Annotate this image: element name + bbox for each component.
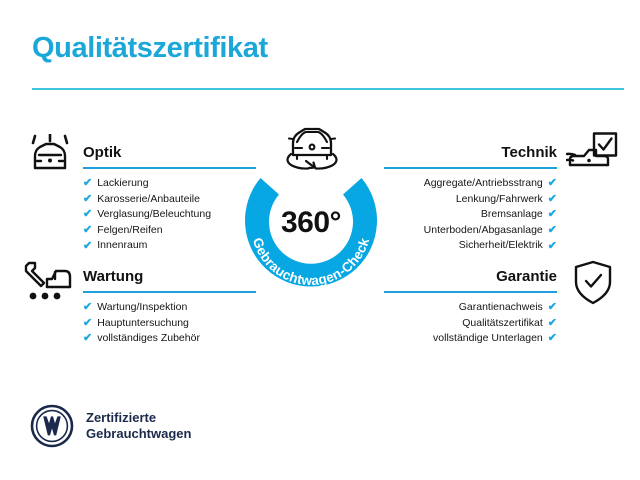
wrench-car-icon <box>24 259 74 303</box>
car-front-rotate-icon <box>278 117 346 173</box>
list-item-label: Bremsanlage <box>481 207 543 223</box>
list-item-label: vollständige Unterlagen <box>433 331 543 347</box>
list-item-label: Innenraum <box>97 238 147 254</box>
list-item-label: Wartung/Inspektion <box>97 300 187 316</box>
list-item: vollständige Unterlagen ✔ <box>384 331 557 347</box>
list-item-label: Garantienachweis <box>459 300 543 316</box>
list-item: Bremsanlage ✔ <box>384 207 557 223</box>
car-front-shine-icon <box>26 134 74 174</box>
vw-logo <box>30 404 74 448</box>
list-item: ✔ Felgen/Reifen <box>83 223 256 239</box>
list-item: ✔ Wartung/Inspektion <box>83 300 256 316</box>
list-item-label: Felgen/Reifen <box>97 223 162 239</box>
section-technik-title: Technik <box>384 143 557 163</box>
check-icon: ✔ <box>83 241 92 252</box>
check-icon: ✔ <box>83 318 92 329</box>
section-optik-title: Optik <box>83 143 256 163</box>
check-icon: ✔ <box>83 209 92 220</box>
check-icon: ✔ <box>548 178 557 189</box>
list-item: Garantienachweis ✔ <box>384 300 557 316</box>
shield-check-icon <box>572 260 614 306</box>
page-title: Qualitätszertifikat <box>32 32 268 65</box>
title-divider <box>32 88 624 90</box>
section-wartung: Wartung ✔ Wartung/Inspektion ✔ Hauptunte… <box>83 267 256 347</box>
list-item-label: Aggregate/Antriebsstrang <box>424 176 543 192</box>
check-icon: ✔ <box>83 333 92 344</box>
check-icon: ✔ <box>83 302 92 313</box>
section-garantie-title: Garantie <box>384 267 557 287</box>
list-item: Sicherheit/Elektrik ✔ <box>384 238 557 254</box>
section-optik-items: ✔ Lackierung ✔ Karosserie/Anbauteile ✔ V… <box>83 176 256 254</box>
list-item-label: Sicherheit/Elektrik <box>459 238 543 254</box>
brand-line-1: Zertifizierte <box>86 410 191 426</box>
section-garantie-items: Garantienachweis ✔ Qualitätszertifikat ✔… <box>384 300 557 347</box>
section-wartung-divider <box>83 291 256 293</box>
list-item: Unterboden/Abgasanlage ✔ <box>384 223 557 239</box>
certificate-page: Qualitätszertifikat Optik <box>0 0 640 480</box>
list-item-label: Lackierung <box>97 176 148 192</box>
list-item: ✔ Hauptuntersuchung <box>83 316 256 332</box>
check-icon: ✔ <box>548 209 557 220</box>
check-icon: ✔ <box>548 225 557 236</box>
section-wartung-header: Wartung <box>83 267 256 293</box>
section-optik-header: Optik <box>83 143 256 169</box>
list-item: ✔ Lackierung <box>83 176 256 192</box>
list-item-label: Qualitätszertifikat <box>462 316 543 332</box>
list-item-label: Karosserie/Anbauteile <box>97 192 200 208</box>
check-icon: ✔ <box>83 178 92 189</box>
360-badge: Gebrauchtwagen-Check 360° <box>233 117 407 303</box>
list-item-label: vollständiges Zubehör <box>97 331 200 347</box>
brand-text: Zertifizierte Gebrauchtwagen <box>86 410 191 442</box>
list-item: Aggregate/Antriebsstrang ✔ <box>384 176 557 192</box>
brand-lockup: Zertifizierte Gebrauchtwagen <box>30 404 191 448</box>
list-item: ✔ vollständiges Zubehör <box>83 331 256 347</box>
list-item-label: Lenkung/Fahrwerk <box>456 192 543 208</box>
section-technik-header: Technik <box>384 143 557 169</box>
section-technik-divider <box>384 167 557 169</box>
section-garantie-header: Garantie <box>384 267 557 293</box>
brand-line-2: Gebrauchtwagen <box>86 426 191 442</box>
section-technik-items: Aggregate/Antriebsstrang ✔ Lenkung/Fahrw… <box>384 176 557 254</box>
list-item: ✔ Verglasung/Beleuchtung <box>83 207 256 223</box>
section-optik-divider <box>83 167 256 169</box>
check-icon: ✔ <box>83 194 92 205</box>
list-item: Qualitätszertifikat ✔ <box>384 316 557 332</box>
check-icon: ✔ <box>548 333 557 344</box>
check-icon: ✔ <box>548 302 557 313</box>
car-checkbox-icon <box>566 132 618 174</box>
section-technik: Technik Aggregate/Antriebsstrang ✔ Lenku… <box>384 143 557 254</box>
section-garantie: Garantie Garantienachweis ✔ Qualitätszer… <box>384 267 557 347</box>
check-icon: ✔ <box>83 225 92 236</box>
list-item: ✔ Karosserie/Anbauteile <box>83 192 256 208</box>
check-icon: ✔ <box>548 318 557 329</box>
ring-shape <box>245 178 377 286</box>
list-item-label: Hauptuntersuchung <box>97 316 189 332</box>
list-item-label: Unterboden/Abgasanlage <box>424 223 543 239</box>
list-item: Lenkung/Fahrwerk ✔ <box>384 192 557 208</box>
section-optik: Optik ✔ Lackierung ✔ Karosserie/Anbautei… <box>83 143 256 254</box>
check-icon: ✔ <box>548 241 557 252</box>
section-wartung-items: ✔ Wartung/Inspektion ✔ Hauptuntersuchung… <box>83 300 256 347</box>
check-icon: ✔ <box>548 194 557 205</box>
section-wartung-title: Wartung <box>83 267 256 287</box>
list-item: ✔ Innenraum <box>83 238 256 254</box>
section-garantie-divider <box>384 291 557 293</box>
list-item-label: Verglasung/Beleuchtung <box>97 207 211 223</box>
